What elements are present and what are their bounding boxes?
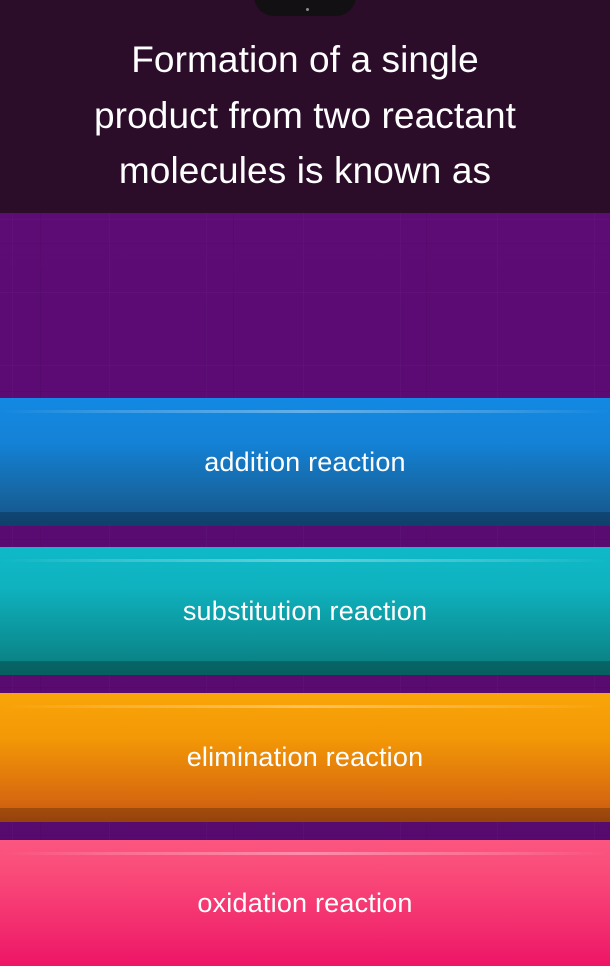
front-camera-icon xyxy=(306,8,309,11)
quiz-screen: Formation of a single product from two r… xyxy=(0,0,610,966)
bottom-shade xyxy=(0,512,610,526)
gloss-highlight xyxy=(0,410,610,413)
question-text: Formation of a single product from two r… xyxy=(25,14,585,199)
answer-option-substitution-reaction[interactable]: substitution reaction xyxy=(0,547,610,675)
gloss-highlight xyxy=(0,705,610,708)
answer-option-label: addition reaction xyxy=(204,447,406,478)
gloss-highlight xyxy=(0,559,610,562)
question-header: Formation of a single product from two r… xyxy=(0,0,610,213)
answer-option-label: oxidation reaction xyxy=(197,888,412,919)
answer-option-addition-reaction[interactable]: addition reaction xyxy=(0,398,610,526)
answer-option-elimination-reaction[interactable]: elimination reaction xyxy=(0,693,610,822)
bottom-shade xyxy=(0,661,610,675)
gloss-highlight xyxy=(0,852,610,855)
answers-area: addition reaction substitution reaction … xyxy=(0,213,610,966)
answer-options-list: addition reaction substitution reaction … xyxy=(0,213,610,966)
answer-option-label: substitution reaction xyxy=(183,596,427,627)
dynamic-island-notch xyxy=(254,0,356,16)
bottom-shade xyxy=(0,808,610,822)
answer-option-label: elimination reaction xyxy=(187,742,424,773)
answer-option-oxidation-reaction[interactable]: oxidation reaction xyxy=(0,840,610,966)
